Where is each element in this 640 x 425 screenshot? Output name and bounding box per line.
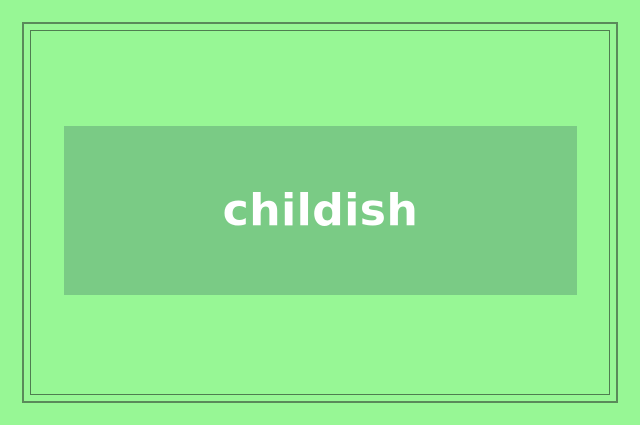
word-card-canvas: childish <box>0 0 640 425</box>
word-label: childish <box>223 189 419 233</box>
word-panel: childish <box>64 126 577 295</box>
